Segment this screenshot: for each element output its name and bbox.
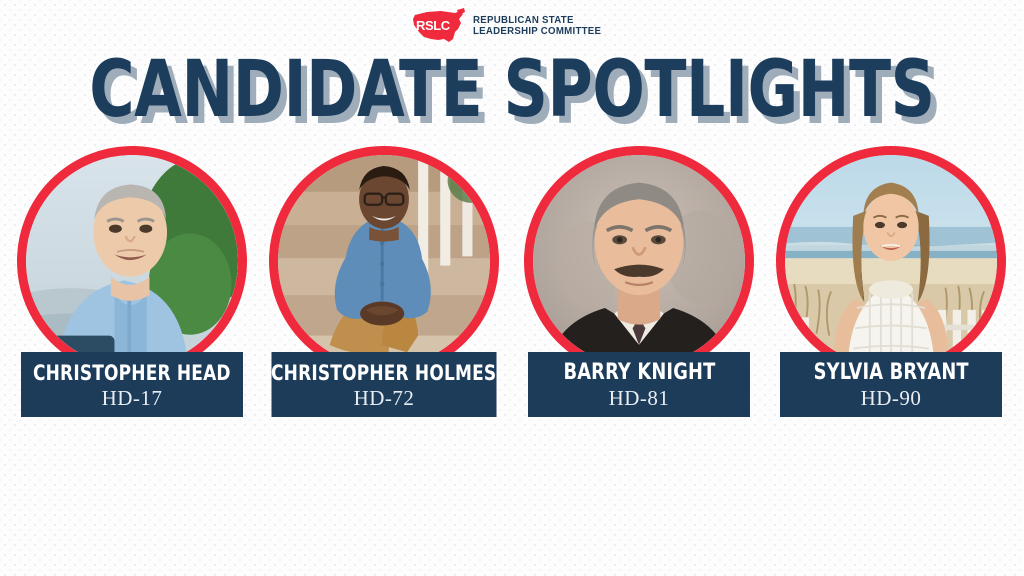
candidate-photo-ring [269,146,499,376]
candidate-photo [785,155,997,367]
candidate-card[interactable]: BARRY KNIGHT HD-81 [517,146,761,376]
candidate-photo [26,155,238,367]
candidate-name: BARRY KNIGHT [563,361,715,385]
rslc-usa-map-icon: RSLC [411,8,467,44]
candidate-card[interactable]: SYLVIA BRYANT HD-90 [769,146,1013,376]
candidate-card[interactable]: CHRISTOPHER HEAD HD-17 [10,146,254,376]
candidate-district: HD-90 [861,386,922,410]
page-title: CANDIDATE SPOTLIGHTS [61,50,962,130]
candidate-photo-ring [776,146,1006,376]
candidate-nameplate: CHRISTOPHER HOLMES HD-72 [272,352,497,417]
svg-text:RSLC: RSLC [416,18,451,33]
candidate-name: CHRISTOPHER HOLMES [271,361,496,385]
candidate-card[interactable]: CHRISTOPHER HOLMES HD-72 [262,146,506,376]
candidate-district: HD-72 [354,386,415,410]
candidate-nameplate: BARRY KNIGHT HD-81 [528,352,750,417]
candidate-name: SYLVIA BRYANT [813,361,968,385]
candidate-district: HD-17 [102,386,163,410]
candidate-district: HD-81 [609,386,670,410]
slide-canvas: RSLC REPUBLICAN STATE LEADERSHIP COMMITT… [0,0,1024,576]
candidate-nameplate: SYLVIA BRYANT HD-90 [780,352,1002,417]
candidate-photo-ring [17,146,247,376]
candidate-photo [533,155,745,367]
rslc-logo-wordmark: REPUBLICAN STATE LEADERSHIP COMMITTEE [473,15,612,38]
rslc-wordmark-line2: LEADERSHIP COMMITTEE [473,26,601,37]
candidate-card-row: CHRISTOPHER HEAD HD-17 [0,146,1024,426]
candidate-photo [278,155,490,367]
candidate-nameplate: CHRISTOPHER HEAD HD-17 [21,352,243,417]
candidate-photo-ring [524,146,754,376]
candidate-name: CHRISTOPHER HEAD [33,361,231,385]
rslc-logo: RSLC REPUBLICAN STATE LEADERSHIP COMMITT… [0,8,1024,44]
